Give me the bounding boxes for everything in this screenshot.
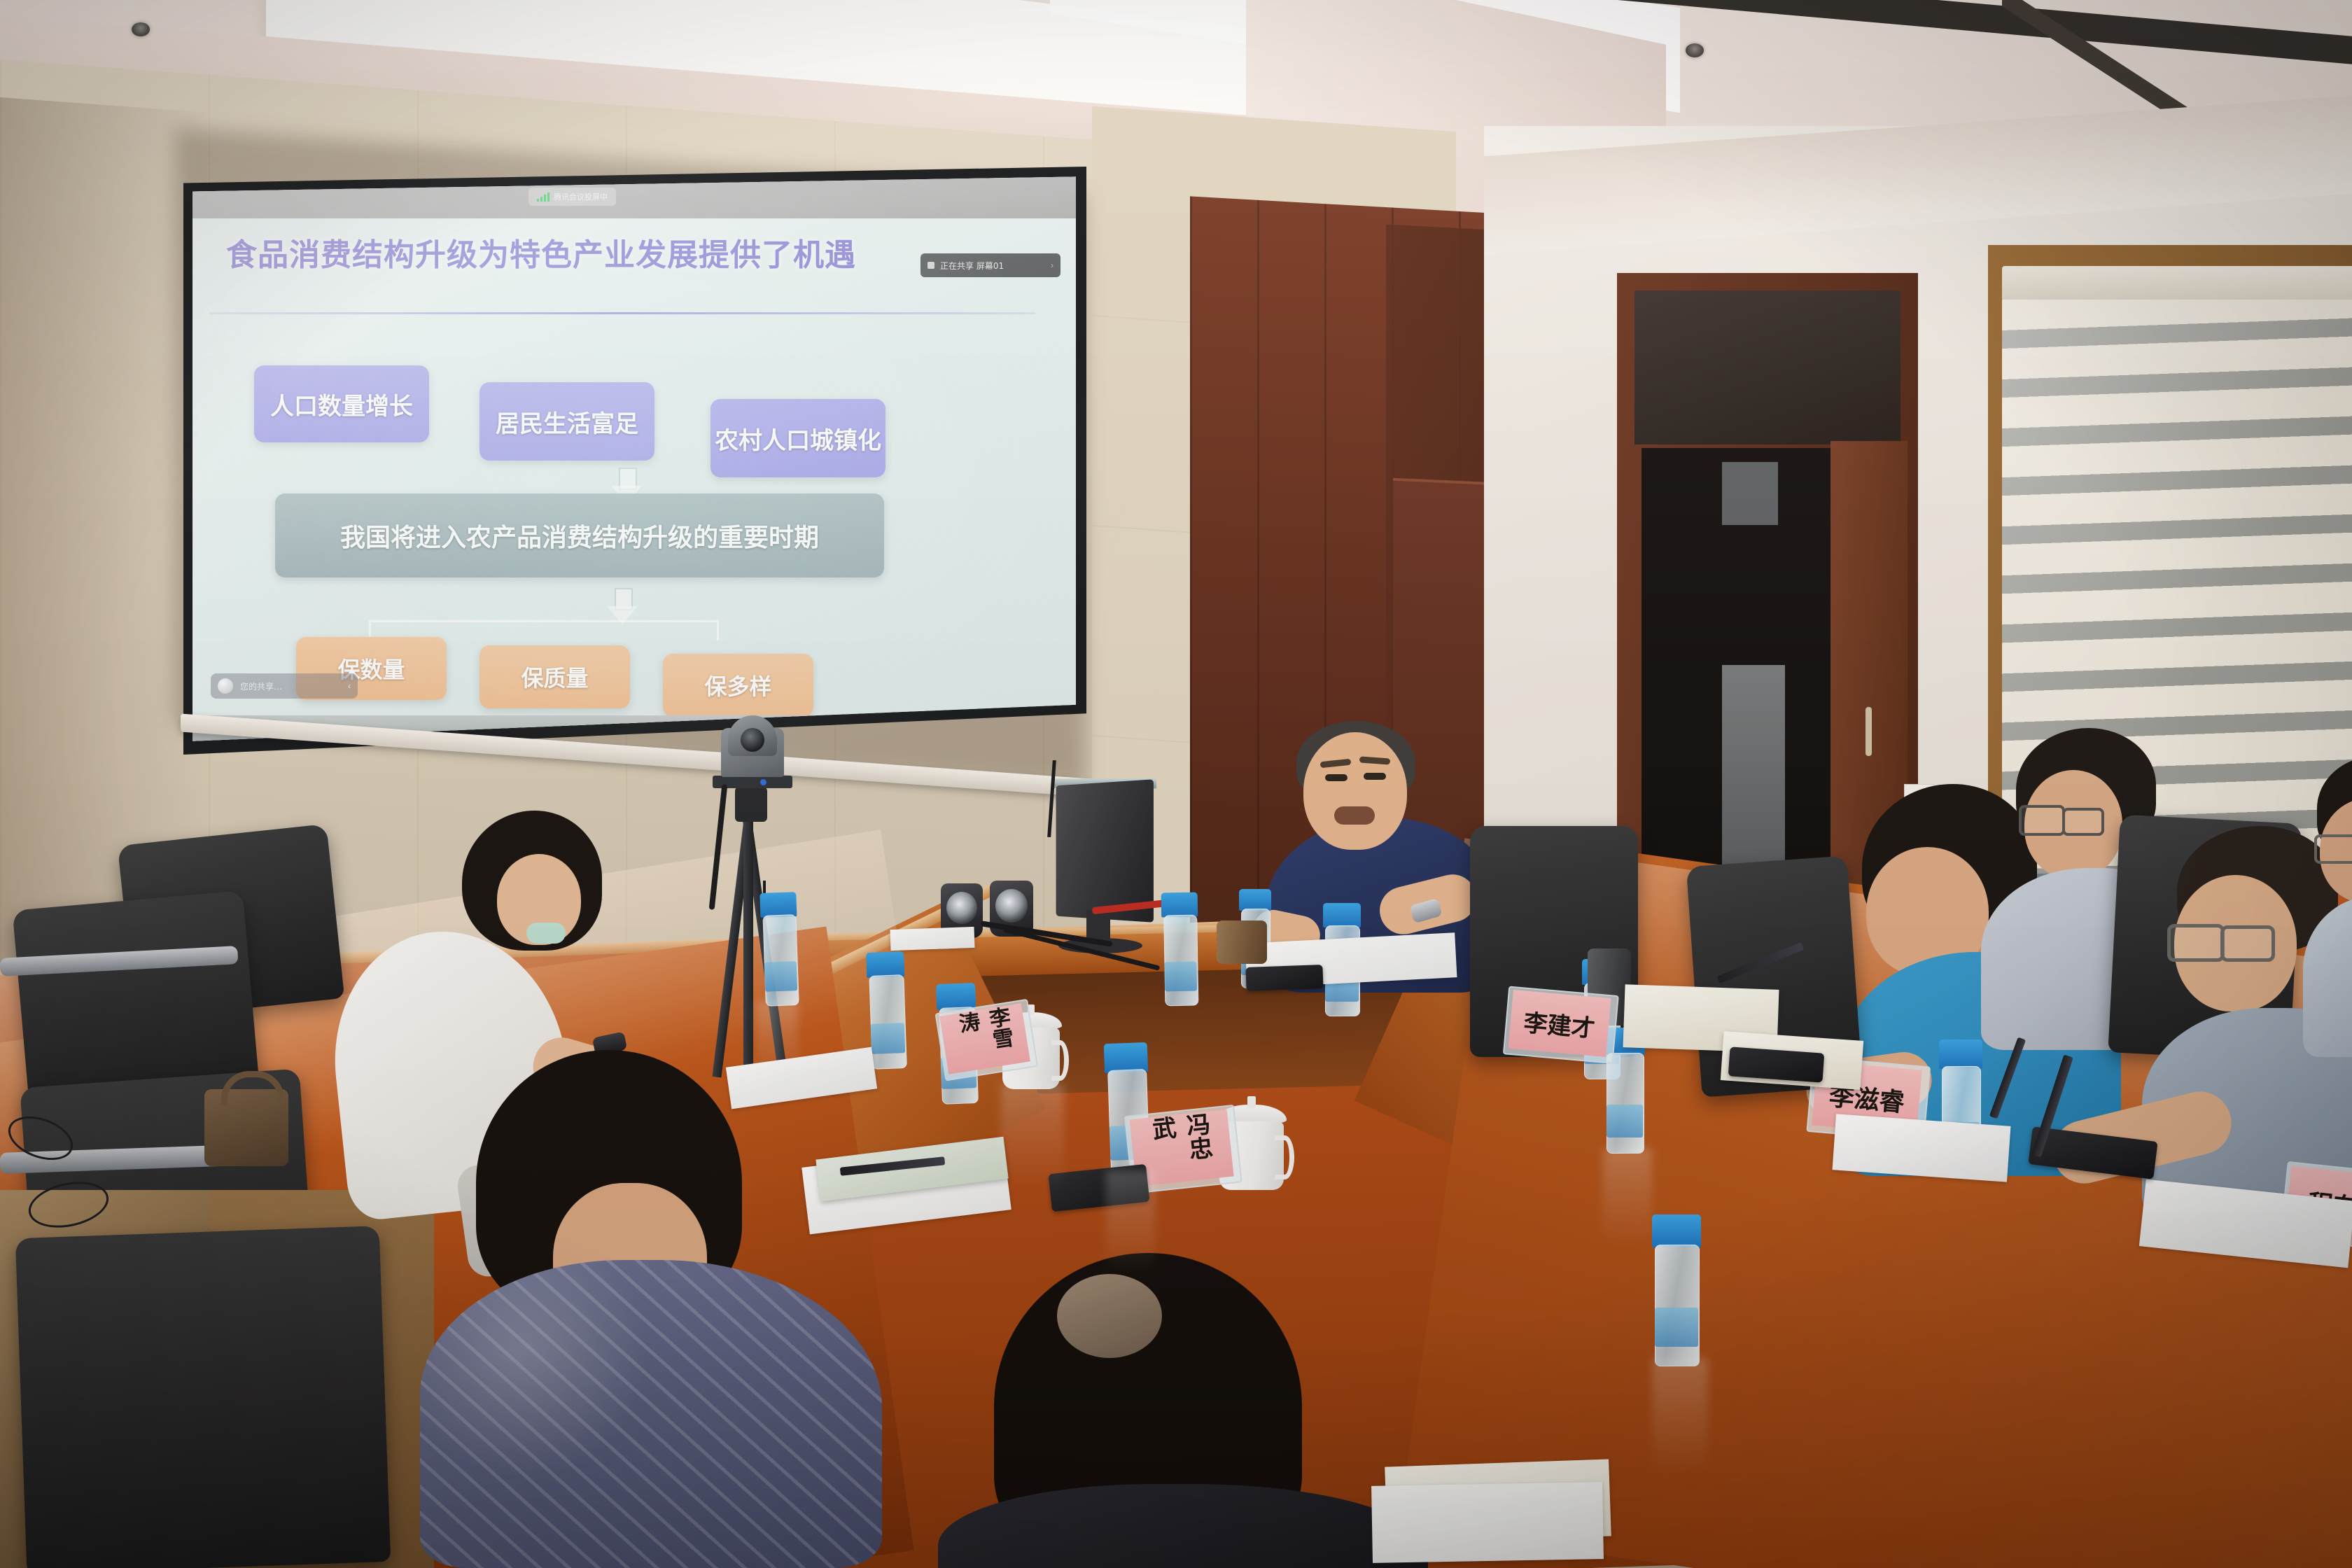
jade-necklace <box>526 923 566 944</box>
speaker-head <box>1303 732 1407 850</box>
chevron-right-icon[interactable]: › <box>1051 260 1053 270</box>
bottle-body <box>1163 915 1198 1007</box>
water-bottle[interactable] <box>759 892 800 1005</box>
speaker-mouth <box>1334 806 1375 825</box>
hair-tie <box>1057 1274 1162 1358</box>
office-chair-foreground[interactable] <box>15 1226 391 1568</box>
screen-share-badge-label: 腾讯会议投屏中 <box>554 191 608 202</box>
share-control-bar[interactable]: 您的共享… ‹ <box>211 673 358 699</box>
slide-pill-conclusion: 我国将进入农产品消费结构升级的重要时期 <box>275 493 884 577</box>
nameplate-1: 李雪涛 <box>939 1003 1030 1074</box>
person-foreground-center <box>938 1253 1442 1568</box>
screen-share-badge: 腾讯会议投屏中 <box>528 188 616 206</box>
far-right-shirt <box>2303 896 2352 1057</box>
bottle-body <box>762 914 799 1007</box>
speaker-cone-icon <box>995 889 1028 923</box>
presentation-slide: 腾讯会议投屏中 食品消费结构升级为特色产业发展提供了机遇 正在共享 屏幕01 ›… <box>192 175 1076 743</box>
slide-pill-urbanization: 农村人口城镇化 <box>710 399 885 477</box>
table-reflection <box>1001 1084 1064 1189</box>
eyeglasses-icon <box>2314 834 2352 864</box>
mug-handle <box>1051 1040 1069 1081</box>
desktop-monitor[interactable] <box>1056 779 1154 923</box>
door-transom-window <box>1634 290 1900 444</box>
bottle-label <box>1655 1308 1698 1347</box>
bottle-label <box>871 1023 905 1054</box>
smartphone[interactable] <box>1245 965 1323 991</box>
slide-pill-variety: 保多样 <box>663 654 813 717</box>
blind-headrail[interactable] <box>2002 266 2352 301</box>
camera-status-led-icon <box>760 779 766 785</box>
slide-title: 食品消费结构升级为特色产业发展提供了机遇 <box>226 230 968 274</box>
grid-icon <box>927 262 934 269</box>
slide-title-underline <box>209 312 1035 314</box>
projection-screen: 腾讯会议投屏中 食品消费结构升级为特色产业发展提供了机遇 正在共享 屏幕01 ›… <box>192 175 1076 743</box>
bottle-body <box>1606 1053 1644 1154</box>
downlight-icon <box>132 22 150 36</box>
bottle-label <box>1606 1105 1642 1137</box>
chevron-left-icon[interactable]: ‹ <box>348 681 351 691</box>
nameplate-label: 李建才 <box>1508 990 1611 1057</box>
paper-card <box>890 927 975 951</box>
tripod-head[interactable] <box>735 787 767 822</box>
corridor-light-upper <box>1722 462 1778 525</box>
share-control-label: 您的共享… <box>240 680 282 692</box>
eyeglasses-icon <box>2019 805 2065 836</box>
eyeglasses-icon <box>2167 924 2225 962</box>
speaker-cone-icon <box>946 892 977 924</box>
conference-room-photo: 腾讯会议投屏中 食品消费结构升级为特色产业发展提供了机遇 正在共享 屏幕01 ›… <box>0 0 2352 1568</box>
bottle-cap <box>1652 1214 1701 1247</box>
slide-pill-quality: 保质量 <box>479 645 630 708</box>
tripod-center-column <box>743 819 753 1085</box>
avatar-icon <box>218 678 233 694</box>
mug-handle <box>1275 1135 1294 1179</box>
bottle-label <box>764 961 797 991</box>
eyeglasses-icon <box>2062 808 2104 836</box>
slide-pill-population: 人口数量增长 <box>254 365 429 442</box>
water-bottle[interactable] <box>866 951 908 1068</box>
water-bottle[interactable] <box>1161 892 1200 1005</box>
bottle-cap <box>1939 1039 1982 1069</box>
wooden-tumbler[interactable] <box>1217 920 1267 964</box>
person-far-right <box>2303 756 2352 1050</box>
table-reflection <box>1652 1358 1708 1477</box>
bottle-label <box>1164 962 1196 991</box>
speaker-eye <box>1364 773 1386 780</box>
person-foreground-left <box>420 1050 924 1568</box>
door-handle[interactable] <box>1865 707 1872 756</box>
water-bottle[interactable] <box>1652 1214 1701 1365</box>
bottle-cap <box>1239 889 1271 911</box>
nameplate-3: 李建才 <box>1508 990 1611 1057</box>
mug-lid-knob <box>1247 1096 1255 1108</box>
table-reflection <box>756 1001 798 1085</box>
bottle-cap <box>1323 903 1361 927</box>
signal-bars-icon <box>537 192 549 202</box>
eyeglasses-icon <box>2220 925 2275 962</box>
slide-pill-prosperity: 居民生活富足 <box>479 382 654 461</box>
table-reflection <box>1106 1170 1155 1275</box>
downlight-icon <box>1686 43 1704 57</box>
bottle-cap <box>1161 892 1198 918</box>
bottle-body <box>869 974 907 1070</box>
camera-lens-icon <box>741 728 764 752</box>
sharing-toolbar-label: 正在共享 屏幕01 <box>940 260 1004 272</box>
bottle-body <box>1655 1245 1700 1366</box>
table-reflection <box>1603 1148 1652 1246</box>
paper-sheet[interactable] <box>1371 1482 1604 1563</box>
foreground-left-blouse <box>420 1260 882 1568</box>
sharing-toolbar[interactable]: 正在共享 屏幕01 › <box>920 253 1060 277</box>
speaker-eye <box>1325 774 1347 781</box>
